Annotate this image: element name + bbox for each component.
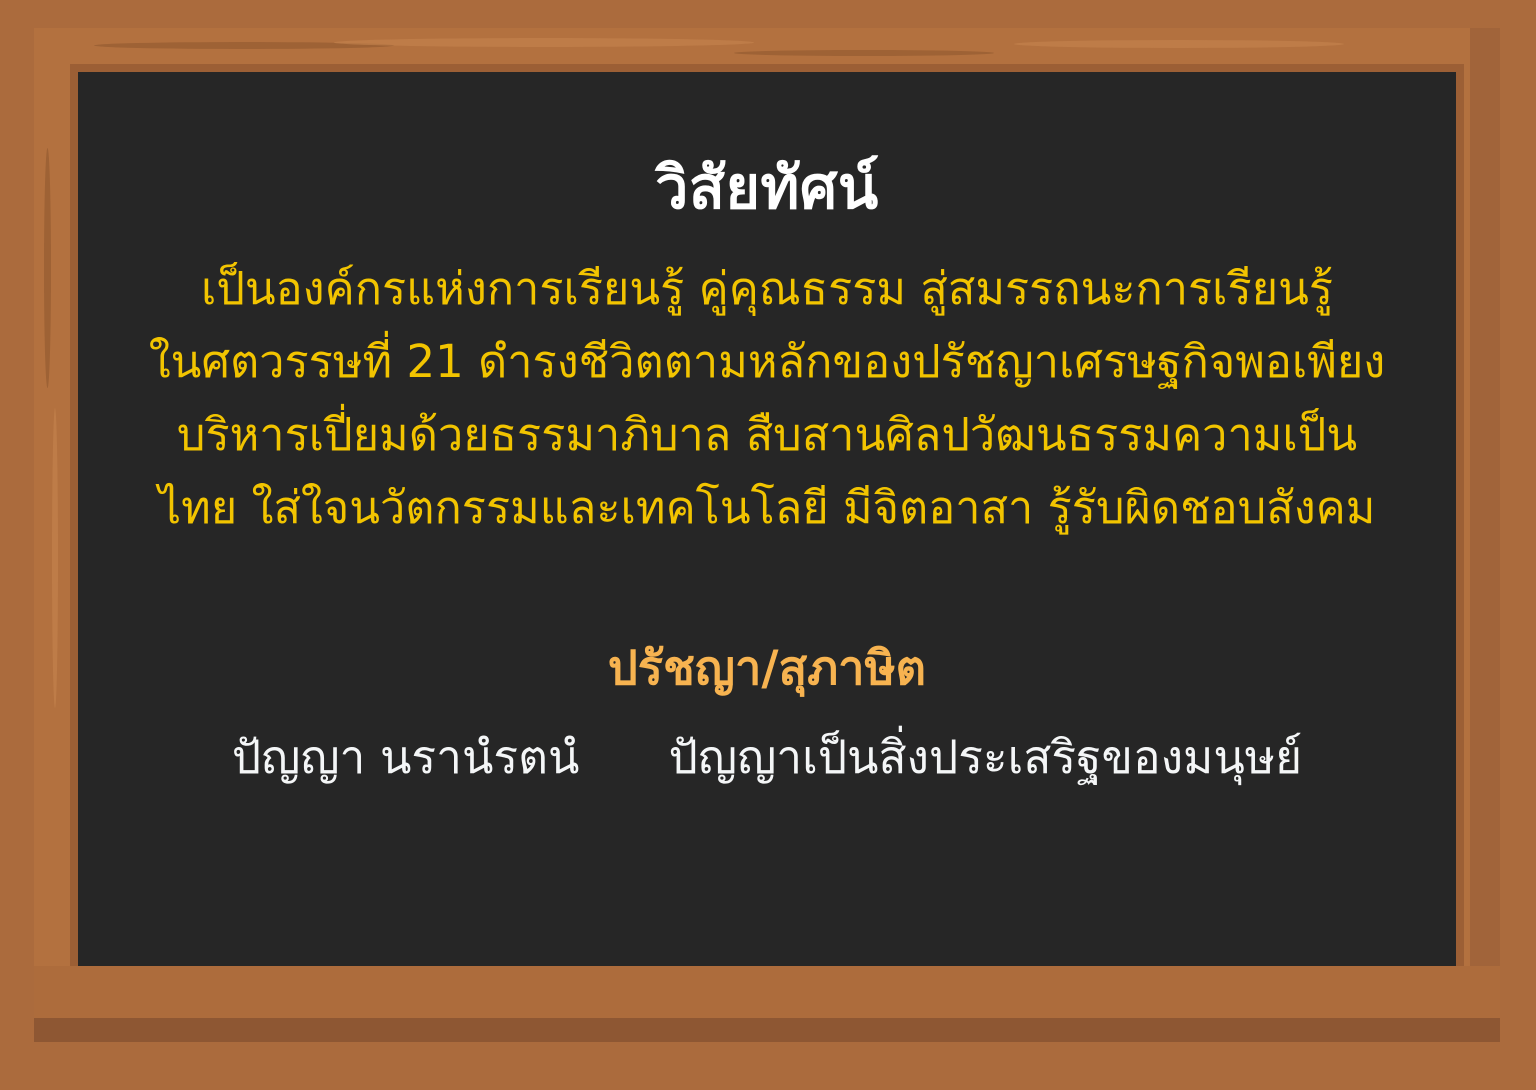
wood-grain-streak	[734, 50, 994, 56]
chalkboard-content: วิสัยทัศน์ เป็นองค์กรแห่งการเรียนรู้ คู่…	[78, 72, 1456, 998]
poster-stage: วิสัยทัศน์ เป็นองค์กรแห่งการเรียนรู้ คู่…	[0, 0, 1536, 1090]
page-title: วิสัยทัศน์	[104, 157, 1430, 219]
vision-line-3: บริหารเปี่ยมด้วยธรรมาภิบาล สืบสานศิลปวัฒ…	[118, 399, 1416, 472]
chalk-tray	[34, 966, 1500, 1042]
wood-grain-streak	[1014, 40, 1344, 48]
vision-line-2: ในศตวรรษที่ 21 ดำรงชีวิตตามหลักของปรัชญา…	[118, 326, 1416, 399]
chalkboard-wooden-frame: วิสัยทัศน์ เป็นองค์กรแห่งการเรียนรู้ คู่…	[34, 28, 1500, 1042]
chalk-tray-surface	[34, 966, 1500, 1018]
philosophy-motto: ปัญญา นรานํรตนํ ปัญญาเป็นสิ่งประเสริฐของ…	[104, 730, 1430, 785]
wood-grain-streak	[334, 38, 754, 47]
vision-statement: เป็นองค์กรแห่งการเรียนรู้ คู่คุณธรรม สู่…	[104, 253, 1430, 545]
vision-line-4: ไทย ใส่ใจนวัตกรรมและเทคโนโลยี มีจิตอาสา …	[118, 472, 1416, 545]
chalk-tray-lip	[34, 1018, 1500, 1042]
frame-right-bevel	[1470, 28, 1500, 1042]
wood-grain-streak	[52, 408, 58, 708]
motto-thai-text: ปัญญาเป็นสิ่งประเสริฐของมนุษย์	[669, 730, 1302, 784]
motto-pali-text: ปัญญา นรานํรตนํ	[232, 730, 580, 784]
philosophy-heading: ปรัชญา/สุภาษิต	[104, 643, 1430, 695]
chalkboard-surface: วิสัยทัศน์ เป็นองค์กรแห่งการเรียนรู้ คู่…	[78, 72, 1456, 998]
wood-grain-streak	[44, 148, 51, 388]
vision-line-1: เป็นองค์กรแห่งการเรียนรู้ คู่คุณธรรม สู่…	[118, 253, 1416, 326]
